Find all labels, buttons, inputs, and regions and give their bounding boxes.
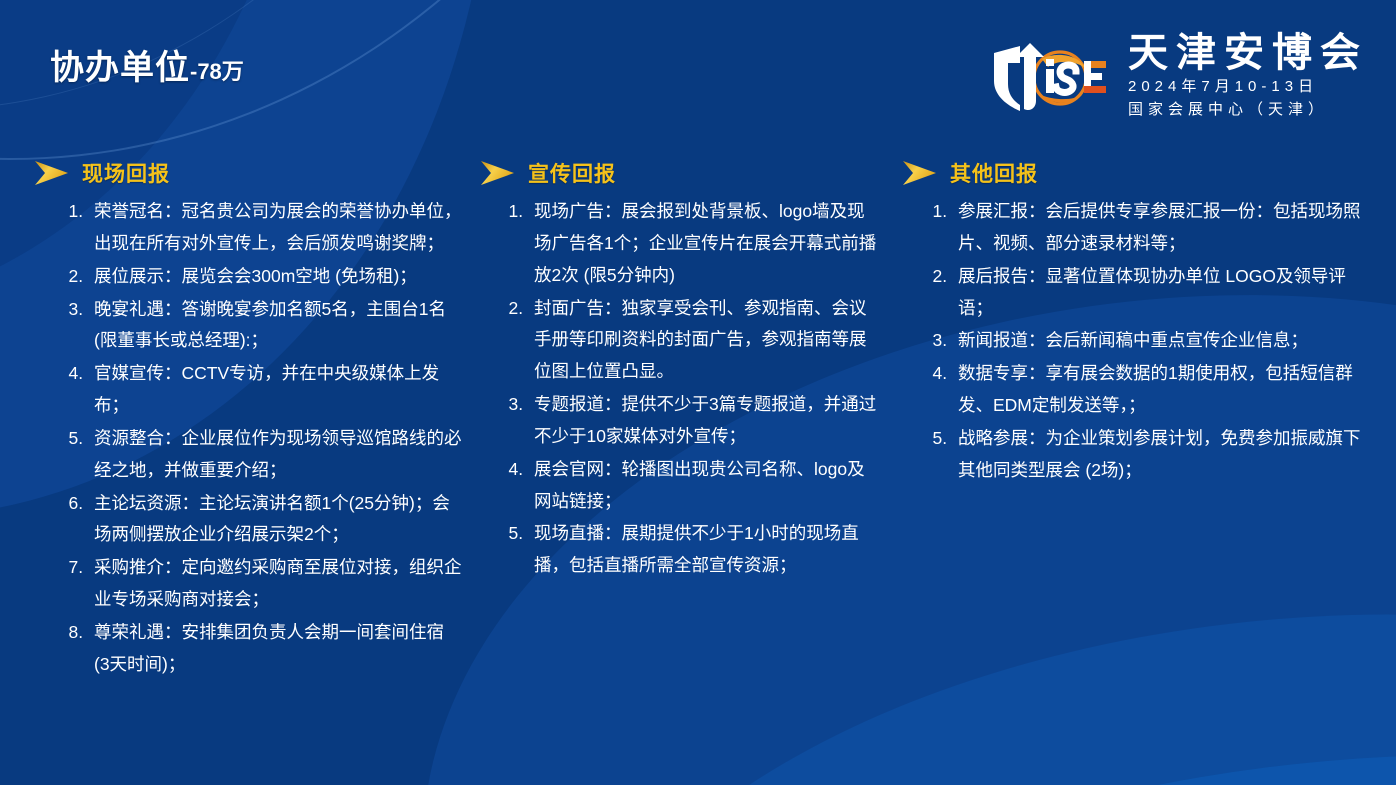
- column-header: 宣传回报: [480, 158, 882, 188]
- swoosh-bottom-right-c: [680, 704, 1396, 785]
- list-item: 现场直播：展期提供不少于1小时的现场直播，包括直播所需全部宣传资源；: [528, 518, 882, 582]
- list-item: 现场广告：展会报到处背景板、logo墙及现场广告各1个；企业宣传片在展会开幕式前…: [528, 196, 882, 292]
- list-item: 封面广告：独家享受会刊、参观指南、会议手册等印刷资料的封面广告，参观指南等展位图…: [528, 293, 882, 389]
- list-item: 荣誉冠名：冠名贵公司为展会的荣誉协办单位，出现在所有对外宣传上，会后颁发鸣谢奖牌…: [88, 196, 462, 260]
- arrow-right-icon: [902, 160, 938, 186]
- column-title: 宣传回报: [528, 158, 616, 188]
- list-item: 战略参展：为企业策划参展计划，免费参加振威旗下其他同类型展会 (2场)；: [952, 423, 1362, 487]
- arrow-right-icon: [480, 160, 516, 186]
- list-item: 数据专享：享有展会数据的1期使用权，包括短信群发、EDM定制发送等，；: [952, 358, 1362, 422]
- list-item: 展位展示：展览会会300m空地 (免场租)；: [88, 261, 462, 293]
- column-onsite-benefits: 现场回报 荣誉冠名：冠名贵公司为展会的荣誉协办单位，出现在所有对外宣传上，会后颁…: [0, 158, 472, 682]
- list-item: 主论坛资源：主论坛演讲名额1个(25分钟)；会场两侧摆放企业介绍展示架2个；: [88, 488, 462, 552]
- column-title: 现场回报: [82, 158, 170, 188]
- list-item: 晚宴礼遇：答谢晚宴参加名额5名，主围台1名 (限董事长或总经理):；: [88, 294, 462, 358]
- benefit-list: 现场广告：展会报到处背景板、logo墙及现场广告各1个；企业宣传片在展会开幕式前…: [480, 196, 882, 582]
- list-item: 尊荣礼遇：安排集团负责人会期一间套间住宿 (3天时间)；: [88, 617, 462, 681]
- benefits-columns: 现场回报 荣誉冠名：冠名贵公司为展会的荣誉协办单位，出现在所有对外宣传上，会后颁…: [0, 158, 1396, 682]
- list-item: 资源整合：企业展位作为现场领导巡馆路线的必经之地，并做重要介绍；: [88, 423, 462, 487]
- event-logo: 天津安博会 2024年7月10-13日 国家会展中心（天津）: [986, 32, 1368, 121]
- slide-header: 协办单位-78万: [0, 0, 1396, 150]
- arrow-right-icon: [34, 160, 70, 186]
- column-other-benefits: 其他回报 参展汇报：会后提供专享参展汇报一份：包括现场照片、视频、部分速录材料等…: [892, 158, 1372, 682]
- list-item: 新闻报道：会后新闻稿中重点宣传企业信息；: [952, 325, 1362, 357]
- page-title-amount: -78万: [190, 59, 244, 84]
- slide-canvas: 协办单位-78万: [0, 0, 1396, 785]
- event-name: 天津安博会: [1128, 32, 1368, 74]
- event-logo-text: 天津安博会 2024年7月10-13日 国家会展中心（天津）: [1128, 32, 1368, 121]
- column-header: 其他回报: [902, 158, 1362, 188]
- tise-shield-logo-icon: [986, 37, 1114, 117]
- page-title: 协办单位-78万: [50, 40, 244, 89]
- list-item: 参展汇报：会后提供专享参展汇报一份：包括现场照片、视频、部分速录材料等；: [952, 196, 1362, 260]
- page-title-main: 协办单位: [50, 49, 190, 87]
- event-date: 2024年7月10-13日: [1128, 76, 1368, 99]
- benefit-list: 参展汇报：会后提供专享参展汇报一份：包括现场照片、视频、部分速录材料等； 展后报…: [902, 196, 1362, 487]
- list-item: 官媒宣传：CCTV专访，并在中央级媒体上发布；: [88, 358, 462, 422]
- list-item: 专题报道：提供不少于3篇专题报道，并通过不少于10家媒体对外宣传；: [528, 389, 882, 453]
- event-venue: 国家会展中心（天津）: [1128, 99, 1368, 122]
- column-publicity-benefits: 宣传回报 现场广告：展会报到处背景板、logo墙及现场广告各1个；企业宣传片在展…: [472, 158, 892, 682]
- list-item: 采购推介：定向邀约采购商至展位对接，组织企业专场采购商对接会；: [88, 552, 462, 616]
- benefit-list: 荣誉冠名：冠名贵公司为展会的荣誉协办单位，出现在所有对外宣传上，会后颁发鸣谢奖牌…: [34, 196, 462, 681]
- column-title: 其他回报: [950, 158, 1038, 188]
- list-item: 展后报告：显著位置体现协办单位 LOGO及领导评语；: [952, 261, 1362, 325]
- column-header: 现场回报: [34, 158, 462, 188]
- list-item: 展会官网：轮播图出现贵公司名称、logo及网站链接；: [528, 454, 882, 518]
